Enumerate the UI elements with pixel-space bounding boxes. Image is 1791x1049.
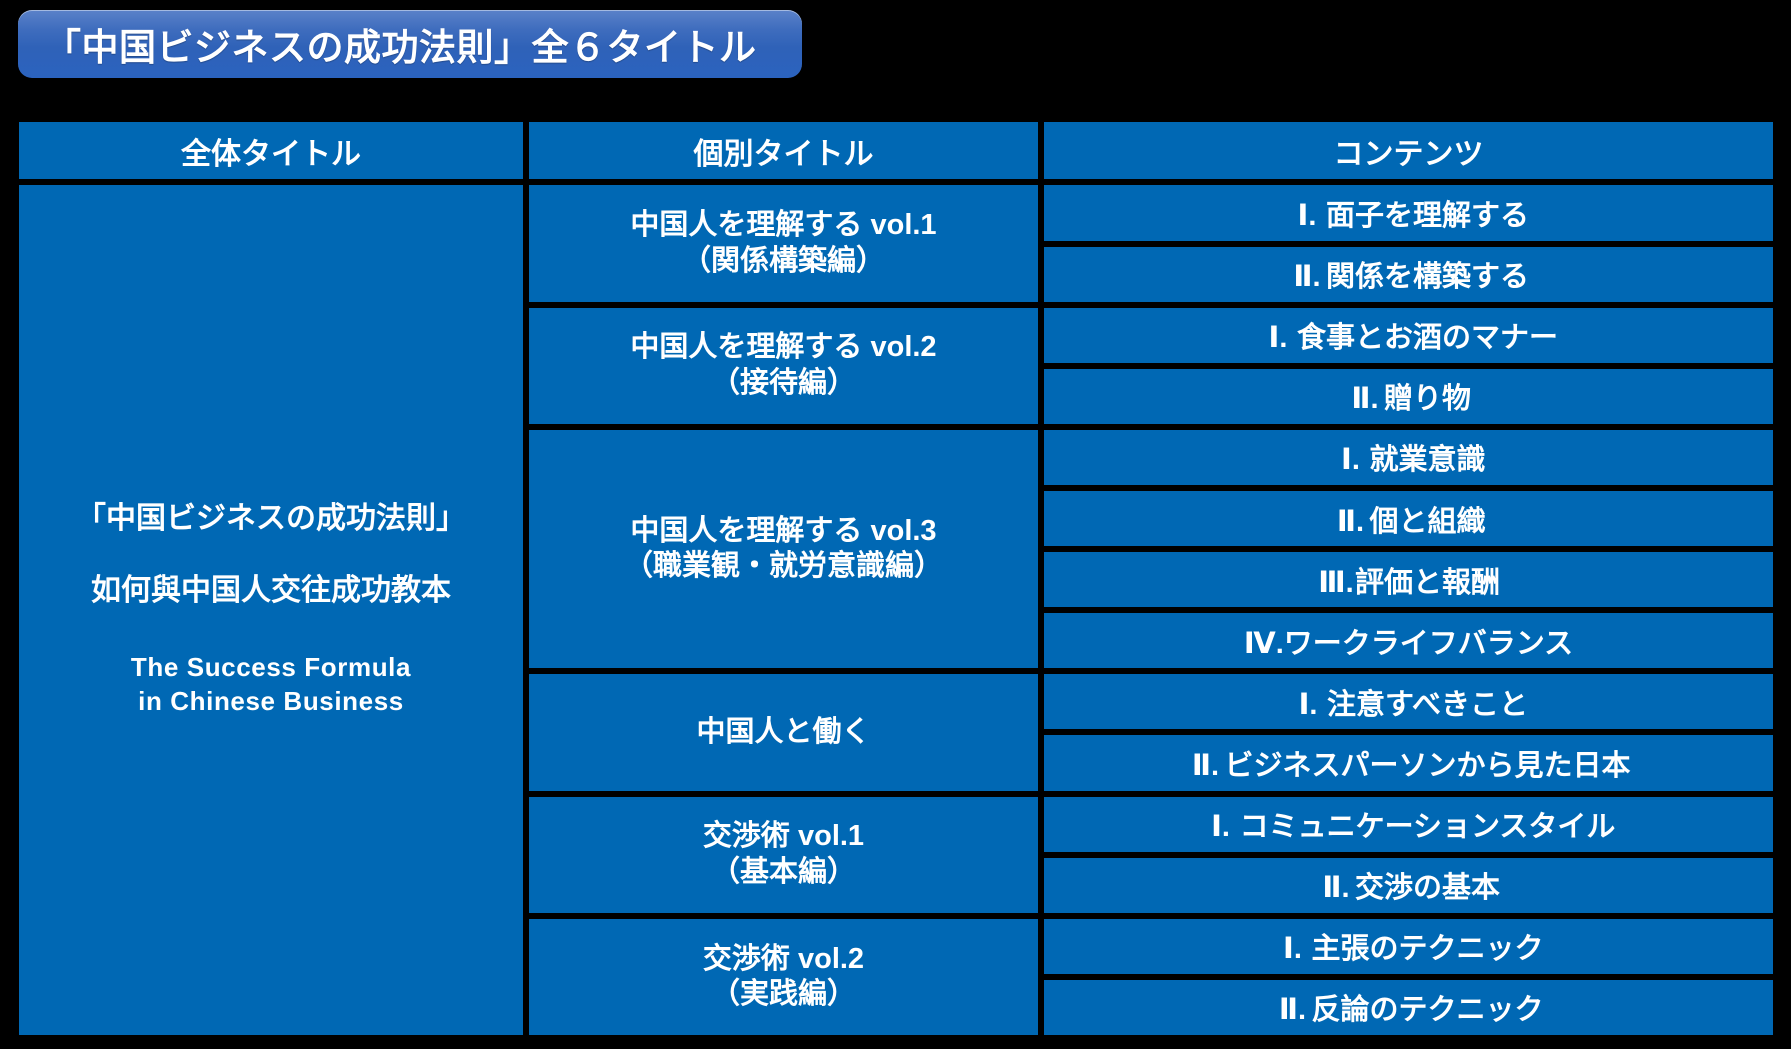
content-item-cell[interactable]: Ⅱ.反論のテクニック (1041, 977, 1776, 1038)
individual-title-cell[interactable]: 交渉術 vol.2（実践編） (526, 916, 1041, 1038)
content-item-number: Ⅰ. (1288, 198, 1326, 233)
individual-title-main: 中国人を理解する vol.3 (630, 515, 936, 547)
content-item-number: Ⅰ. (1289, 687, 1327, 722)
content-item-cell[interactable]: Ⅲ.評価と報酬 (1041, 549, 1776, 610)
content-item-number: Ⅰ. (1202, 809, 1240, 844)
content-item-cell[interactable]: Ⅰ.主張のテクニック (1041, 916, 1776, 977)
content-item-number: Ⅱ. (1288, 259, 1326, 294)
individual-title-sub: （基本編） (535, 855, 1032, 890)
content-item-number: Ⅱ. (1317, 870, 1355, 905)
content-item-cell[interactable]: Ⅰ.注意すべきこと (1041, 671, 1776, 732)
page-title-banner: 「中国ビジネスの成功法則」全６タイトル (18, 10, 802, 78)
table-row: 「中国ビジネスの成功法則」如何與中国人交往成功教本The Success For… (16, 182, 1776, 243)
individual-title-cell[interactable]: 中国人を理解する vol.3（職業観・就労意識編） (526, 427, 1041, 671)
overall-title-jp: 「中国ビジネスの成功法則」 (25, 502, 517, 537)
content-item-cell[interactable]: Ⅱ.ビジネスパーソンから見た日本 (1041, 732, 1776, 793)
overall-title-cell: 「中国ビジネスの成功法則」如何與中国人交往成功教本The Success For… (16, 182, 526, 1038)
content-item-label: 評価と報酬 (1355, 567, 1500, 599)
content-item-number: Ⅳ. (1244, 626, 1284, 661)
overall-title-zh: 如何與中国人交往成功教本 (25, 574, 517, 609)
individual-title-main: 交渉術 vol.1 (703, 820, 864, 852)
content-item-number: Ⅲ. (1317, 565, 1355, 600)
individual-title-sub: （職業観・就労意識編） (535, 549, 1032, 584)
content-item-number: Ⅱ. (1273, 992, 1311, 1027)
content-item-label: 反論のテクニック (1311, 994, 1543, 1026)
content-item-label: 贈り物 (1384, 383, 1471, 415)
content-item-label: 注意すべきこと (1327, 689, 1528, 721)
column-header-overall-title: 全体タイトル (16, 119, 526, 182)
content-item-label: 個と組織 (1369, 506, 1485, 538)
content-item-cell[interactable]: Ⅱ.個と組織 (1041, 488, 1776, 549)
column-header-contents: コンテンツ (1041, 119, 1776, 182)
content-item-label: 交渉の基本 (1355, 872, 1500, 904)
column-header-individual-title: 個別タイトル (526, 119, 1041, 182)
content-item-cell[interactable]: Ⅱ.関係を構築する (1041, 244, 1776, 305)
content-item-number: Ⅰ. (1331, 442, 1369, 477)
individual-title-sub: （実践編） (535, 977, 1032, 1012)
content-item-number: Ⅰ. (1259, 320, 1297, 355)
content-item-label: 就業意識 (1369, 444, 1485, 476)
content-item-number: Ⅱ. (1346, 381, 1384, 416)
content-item-label: ビジネスパーソンから見た日本 (1224, 750, 1630, 782)
individual-title-main: 中国人と働く (696, 716, 870, 748)
content-item-cell[interactable]: Ⅰ.コミュニケーションスタイル (1041, 794, 1776, 855)
content-item-cell[interactable]: Ⅱ.交渉の基本 (1041, 855, 1776, 916)
content-item-number: Ⅰ. (1273, 931, 1311, 966)
individual-title-cell[interactable]: 中国人を理解する vol.1（関係構築編） (526, 182, 1041, 304)
individual-title-main: 中国人を理解する vol.2 (630, 331, 936, 363)
content-item-label: コミュニケーションスタイル (1240, 811, 1616, 843)
overall-title-en-line2: in Chinese Business (25, 685, 517, 719)
course-title-matrix: 全体タイトル 個別タイトル コンテンツ 「中国ビジネスの成功法則」如何與中国人交… (16, 119, 1776, 1038)
content-item-cell[interactable]: Ⅰ.面子を理解する (1041, 182, 1776, 243)
content-item-number: Ⅱ. (1186, 748, 1224, 783)
overall-title-en-line1: The Success Formula (25, 651, 517, 685)
content-item-label: 面子を理解する (1326, 200, 1529, 232)
content-item-cell[interactable]: Ⅰ.就業意識 (1041, 427, 1776, 488)
individual-title-sub: （接待編） (535, 366, 1032, 401)
individual-title-cell[interactable]: 交渉術 vol.1（基本編） (526, 794, 1041, 916)
content-item-label: 食事とお酒のマナー (1297, 322, 1558, 354)
individual-title-main: 交渉術 vol.2 (703, 943, 864, 975)
content-item-label: 主張のテクニック (1311, 933, 1543, 965)
content-item-cell[interactable]: Ⅱ.贈り物 (1041, 366, 1776, 427)
content-item-number: Ⅱ. (1331, 504, 1369, 539)
overall-title-en: The Success Formulain Chinese Business (25, 651, 517, 719)
content-item-cell[interactable]: Ⅳ.ワークライフバランス (1041, 610, 1776, 671)
individual-title-sub: （関係構築編） (535, 244, 1032, 279)
content-item-label: 関係を構築する (1326, 261, 1529, 293)
content-item-cell[interactable]: Ⅰ.食事とお酒のマナー (1041, 305, 1776, 366)
individual-title-cell[interactable]: 中国人を理解する vol.2（接待編） (526, 305, 1041, 427)
page-title: 「中国ビジネスの成功法則」全６タイトル (44, 17, 757, 71)
individual-title-cell[interactable]: 中国人と働く (526, 671, 1041, 793)
individual-title-main: 中国人を理解する vol.1 (630, 209, 936, 241)
content-item-label: ワークライフバランス (1284, 628, 1573, 660)
table-header-row: 全体タイトル 個別タイトル コンテンツ (16, 119, 1776, 182)
